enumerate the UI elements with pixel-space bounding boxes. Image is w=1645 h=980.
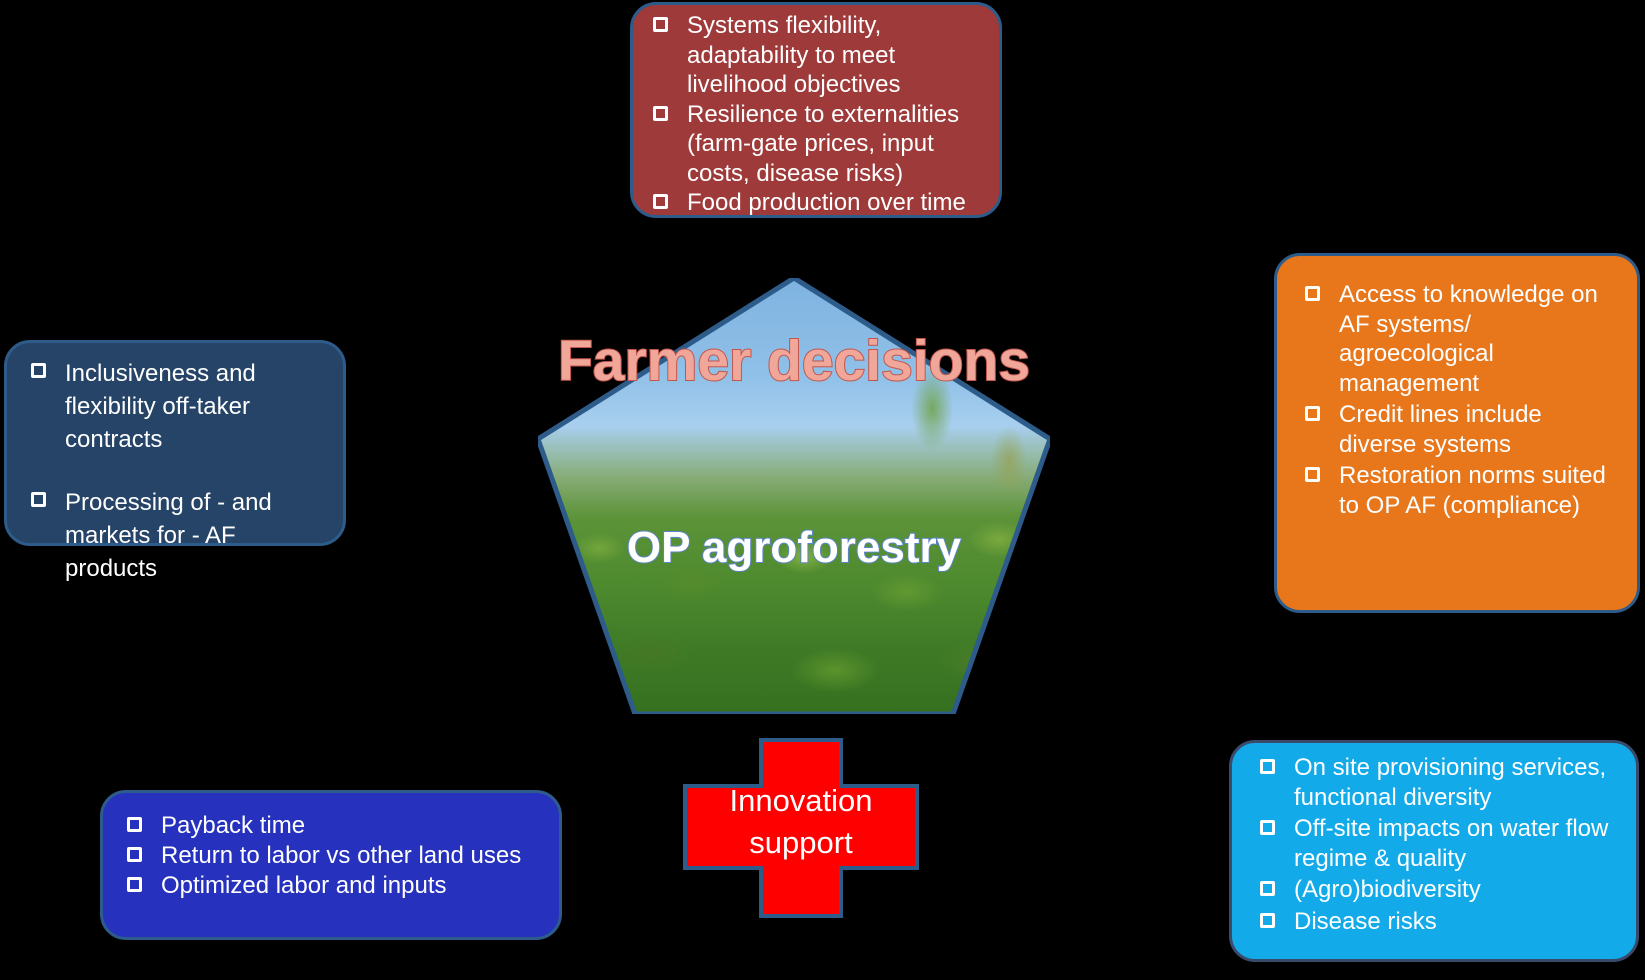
list-item-label: Systems flexibility, adaptability to mee…	[687, 11, 985, 100]
list-item: (Agro)biodiversity	[1256, 875, 1622, 905]
ecosystem-services-box: On site provisioning services, functiona…	[1229, 740, 1639, 962]
innovation-support-cross: Innovation support	[683, 738, 919, 918]
checkbox-icon	[127, 877, 142, 892]
list-item: Systems flexibility, adaptability to mee…	[649, 11, 985, 100]
list-item: Disease risks	[1256, 907, 1622, 937]
enabling-environment-box: Access to knowledge on AF systems/ agroe…	[1274, 253, 1640, 613]
list-item-label: Credit lines include diverse systems	[1339, 400, 1623, 459]
list-item-label: Return to labor vs other land uses	[161, 841, 545, 870]
list-item: Restoration norms suited to OP AF (compl…	[1301, 461, 1623, 520]
list-item: Credit lines include diverse systems	[1301, 400, 1623, 459]
checkbox-icon	[1260, 759, 1275, 774]
list-item: Optimized labor and inputs	[123, 871, 545, 900]
checkbox-icon	[31, 363, 46, 378]
market-contracts-list: Inclusiveness and flexibility off-taker …	[27, 357, 329, 585]
list-item-label: Disease risks	[1294, 907, 1622, 937]
enabling-environment-list: Access to knowledge on AF systems/ agroe…	[1301, 280, 1623, 520]
list-item-label: Restoration norms suited to OP AF (compl…	[1339, 461, 1623, 520]
list-item-label: Access to knowledge on AF systems/ agroe…	[1339, 280, 1623, 398]
list-item: Resilience to externalities (farm-gate p…	[649, 100, 985, 189]
economics-box: Payback time Return to labor vs other la…	[100, 790, 562, 940]
checkbox-icon	[31, 492, 46, 507]
list-item-label: Inclusiveness and flexibility off-taker …	[65, 357, 329, 456]
checkbox-icon	[127, 817, 142, 832]
checkbox-icon	[1260, 881, 1275, 896]
list-item: Return to labor vs other land uses	[123, 841, 545, 870]
list-item: Payback time	[123, 811, 545, 840]
list-item-label: Off-site impacts on water flow regime & …	[1294, 814, 1622, 873]
list-item: On site provisioning services, functiona…	[1256, 753, 1622, 812]
list-item-label: On site provisioning services, functiona…	[1294, 753, 1622, 812]
list-item: Access to knowledge on AF systems/ agroe…	[1301, 280, 1623, 398]
checkbox-icon	[1260, 913, 1275, 928]
economics-list: Payback time Return to labor vs other la…	[123, 811, 545, 900]
livelihood-resilience-list: Systems flexibility, adaptability to mee…	[649, 11, 985, 218]
livelihood-resilience-box: Systems flexibility, adaptability to mee…	[630, 2, 1002, 218]
checkbox-icon	[1305, 406, 1320, 421]
list-item-label: Processing of - and markets for - AF pro…	[65, 486, 329, 585]
checkbox-icon	[1305, 467, 1320, 482]
list-item-label: (Agro)biodiversity	[1294, 875, 1622, 905]
list-item: Inclusiveness and flexibility off-taker …	[27, 357, 329, 456]
list-item-label: Optimized labor and inputs	[161, 871, 545, 900]
checkbox-icon	[653, 194, 668, 209]
pentagon-photo-fill	[538, 278, 1050, 714]
list-item: Food production over time	[649, 188, 985, 218]
list-item: Off-site impacts on water flow regime & …	[1256, 814, 1622, 873]
list-item-label: Resilience to externalities (farm-gate p…	[687, 100, 985, 189]
farmer-decisions-pentagon: Farmer decisions OP agroforestry	[538, 278, 1050, 714]
checkbox-icon	[1260, 820, 1275, 835]
checkbox-icon	[653, 106, 668, 121]
diagram-canvas: Systems flexibility, adaptability to mee…	[0, 0, 1645, 980]
list-item: Processing of - and markets for - AF pro…	[27, 486, 329, 585]
checkbox-icon	[127, 847, 142, 862]
list-item-label: Food production over time	[687, 188, 985, 218]
market-contracts-box: Inclusiveness and flexibility off-taker …	[4, 340, 346, 546]
ecosystem-services-list: On site provisioning services, functiona…	[1256, 753, 1622, 936]
checkbox-icon	[1305, 286, 1320, 301]
list-item-label: Payback time	[161, 811, 545, 840]
checkbox-icon	[653, 17, 668, 32]
